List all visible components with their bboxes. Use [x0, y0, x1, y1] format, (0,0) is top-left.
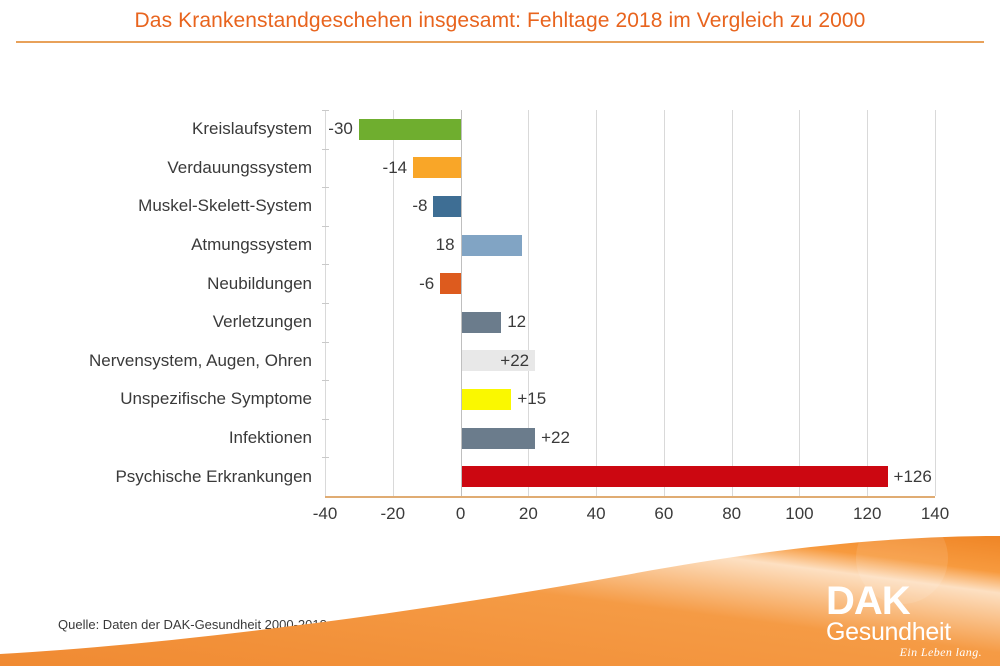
bar [413, 157, 460, 178]
category-label: Verletzungen [0, 303, 312, 342]
x-tick-label: 120 [837, 504, 897, 524]
dak-logo: DAK Gesundheit Ein Leben lang. [826, 583, 986, 660]
chart-row: Unspezifische Symptome+15 [0, 380, 1000, 419]
chart-row: Neubildungen-6 [0, 264, 1000, 303]
y-tick [322, 187, 329, 188]
bar-value-label: -30 [0, 119, 353, 140]
chart-row: Muskel-Skelett-System-8 [0, 187, 1000, 226]
bar-value-label: -8 [0, 196, 427, 217]
y-tick [322, 264, 329, 265]
bar-value-label: +22 [0, 350, 529, 371]
chart-row: Infektionen+22 [0, 419, 1000, 458]
bar-value-label: 18 [0, 235, 455, 256]
bar [440, 273, 460, 294]
y-tick [322, 342, 329, 343]
x-tick-label: 0 [431, 504, 491, 524]
bar-value-label: +126 [894, 466, 932, 487]
bar [461, 428, 536, 449]
x-tick-label: 80 [702, 504, 762, 524]
y-tick [322, 419, 329, 420]
page-title: Das Krankenstandgeschehen insgesamt: Feh… [0, 9, 1000, 33]
chart-row: Nervensystem, Augen, Ohren+22 [0, 342, 1000, 381]
bar-chart: Kreislaufsystem-30Verdauungssystem-14Mus… [0, 96, 1000, 536]
chart-row: Verdauungssystem-14 [0, 149, 1000, 188]
x-tick-label: 140 [905, 504, 965, 524]
y-tick [322, 110, 329, 111]
bar [461, 235, 522, 256]
y-tick [322, 457, 329, 458]
slide-canvas: Das Krankenstandgeschehen insgesamt: Feh… [0, 0, 1000, 666]
x-tick-label: 20 [498, 504, 558, 524]
bar-value-label: 12 [507, 312, 526, 333]
category-label: Infektionen [0, 419, 312, 458]
title-divider [16, 41, 984, 43]
x-tick-label: 60 [634, 504, 694, 524]
x-tick-label: 40 [566, 504, 626, 524]
logo-sub-text: Gesundheit [826, 620, 986, 645]
x-tick-label: 100 [769, 504, 829, 524]
logo-claim-text: Ein Leben lang. [826, 645, 986, 660]
category-label: Unspezifische Symptome [0, 380, 312, 419]
y-tick [322, 149, 329, 150]
chart-row: Psychische Erkrankungen+126 [0, 457, 1000, 496]
chart-row: Verletzungen12 [0, 303, 1000, 342]
source-note: Quelle: Daten der DAK-Gesundheit 2000-20… [58, 617, 327, 632]
y-tick [322, 380, 329, 381]
bar [461, 389, 512, 410]
category-label: Psychische Erkrankungen [0, 457, 312, 496]
x-tick-label: -40 [295, 504, 355, 524]
x-axis-line [325, 496, 935, 498]
bar [461, 312, 502, 333]
bar-value-label: +15 [517, 389, 546, 410]
logo-brand-text: DAK [826, 583, 986, 620]
bar [433, 196, 460, 217]
bar-value-label: -6 [0, 273, 434, 294]
chart-row: Atmungssystem18 [0, 226, 1000, 265]
chart-row: Kreislaufsystem-30 [0, 110, 1000, 149]
bar [461, 466, 888, 487]
y-tick [322, 303, 329, 304]
y-tick [322, 226, 329, 227]
x-tick-label: -20 [363, 504, 423, 524]
gridline-0 [461, 110, 462, 496]
bar-value-label: +22 [541, 428, 570, 449]
bar [359, 119, 461, 140]
bar-value-label: -14 [0, 157, 407, 178]
